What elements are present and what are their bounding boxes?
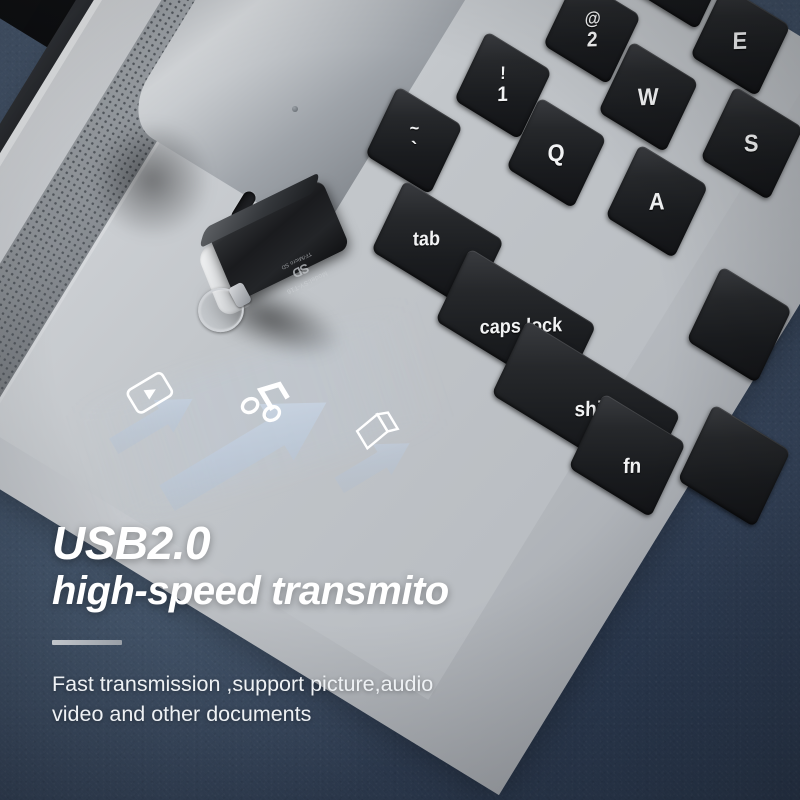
headline-line-2: high-speed transmito: [52, 569, 672, 614]
product-banner: ~` !1 @2 #3 tab: [0, 0, 800, 800]
subtitle-line-2: video and other documents: [52, 699, 672, 730]
copy-divider: [52, 640, 122, 645]
marketing-copy: USB2.0 high-speed transmito Fast transmi…: [52, 520, 672, 730]
subtitle-line-1: Fast transmission ,support picture,audio: [52, 669, 672, 700]
headline-line-1: USB2.0: [52, 520, 672, 567]
